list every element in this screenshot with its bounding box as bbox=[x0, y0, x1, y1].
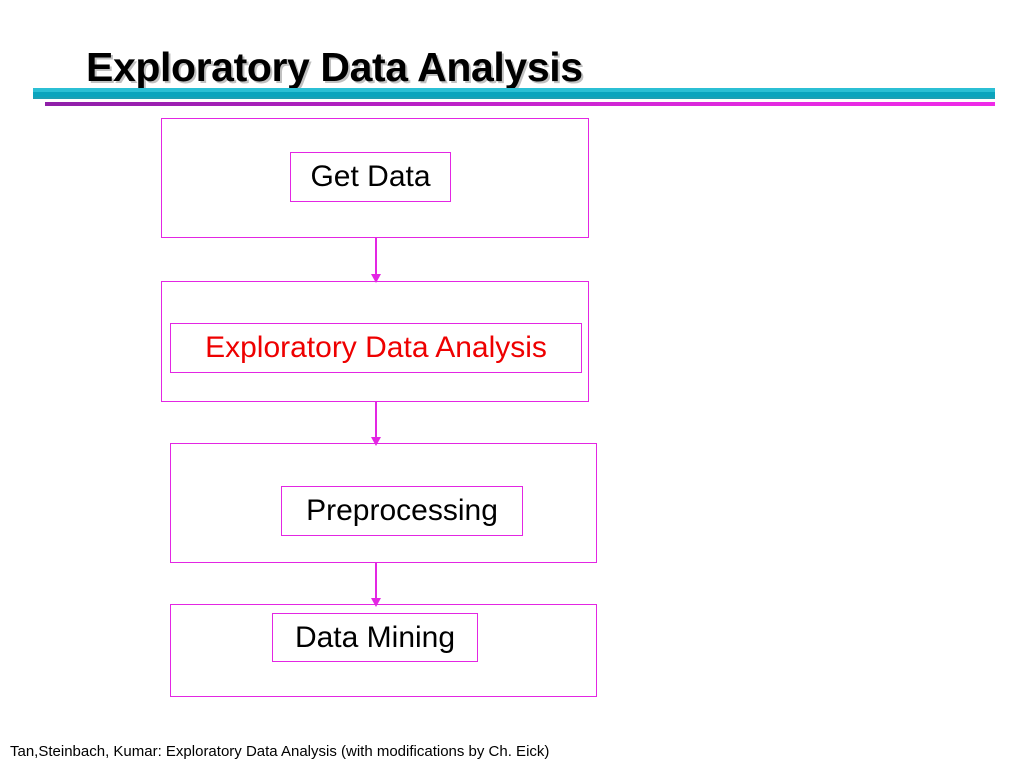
connector-arrow-3 bbox=[369, 562, 383, 607]
flow-step-2[interactable]: Exploratory Data Analysis bbox=[170, 323, 582, 373]
connector-arrow-1 bbox=[369, 238, 383, 283]
flow-step-2-label: Exploratory Data Analysis bbox=[205, 333, 547, 363]
flow-step-1[interactable]: Get Data bbox=[290, 152, 451, 202]
slide-footer-citation: Tan,Steinbach, Kumar: Exploratory Data A… bbox=[10, 743, 549, 760]
flowchart: Get Data Exploratory Data Analysis Prepr… bbox=[0, 0, 1024, 768]
connector-arrow-3-shaft bbox=[375, 562, 377, 598]
flow-step-1-label: Get Data bbox=[310, 162, 430, 192]
flow-step-4[interactable]: Data Mining bbox=[272, 613, 478, 662]
connector-arrow-1-shaft bbox=[375, 238, 377, 274]
flow-step-4-label: Data Mining bbox=[295, 623, 455, 653]
flow-step-3[interactable]: Preprocessing bbox=[281, 486, 523, 536]
connector-arrow-2 bbox=[369, 401, 383, 446]
flow-step-3-label: Preprocessing bbox=[306, 496, 498, 526]
connector-arrow-2-shaft bbox=[375, 401, 377, 437]
